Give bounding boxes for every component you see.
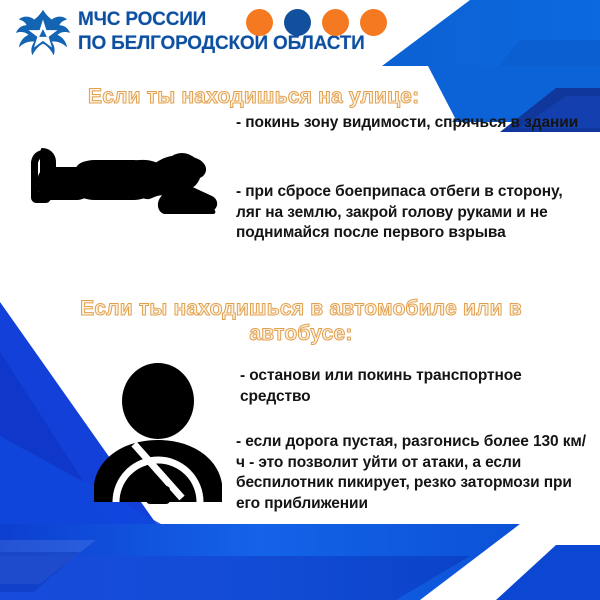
heading-street: Если ты находишься на улице: xyxy=(88,84,419,109)
driver-at-steering-wheel-icon xyxy=(78,362,238,517)
street-item-2: - при сбросе боеприпаса отбеги в сторону… xyxy=(236,182,588,244)
dot-1 xyxy=(246,9,273,36)
poster-header: МЧС РОССИИ ПО БЕЛГОРОДСКОЙ ОБЛАСТИ xyxy=(0,0,600,66)
header-dots xyxy=(246,9,387,36)
person-lying-prone-icon xyxy=(14,134,224,214)
vehicle-item-2: - если дорога пустая, разгонись более 13… xyxy=(236,432,588,514)
dot-3 xyxy=(322,9,349,36)
heading-vehicle: Если ты находишься в автомобиле или в ав… xyxy=(70,296,532,346)
dot-2 xyxy=(284,9,311,36)
emercom-star-emblem-icon xyxy=(14,4,72,64)
street-item-1: - покинь зону видимости, спрячься в здан… xyxy=(236,113,588,134)
infographic-poster: МЧС РОССИИ ПО БЕЛГОРОДСКОЙ ОБЛАСТИ Если … xyxy=(0,0,600,600)
dot-4 xyxy=(360,9,387,36)
vehicle-item-1: - останови или покинь транспортное средс… xyxy=(240,366,588,407)
